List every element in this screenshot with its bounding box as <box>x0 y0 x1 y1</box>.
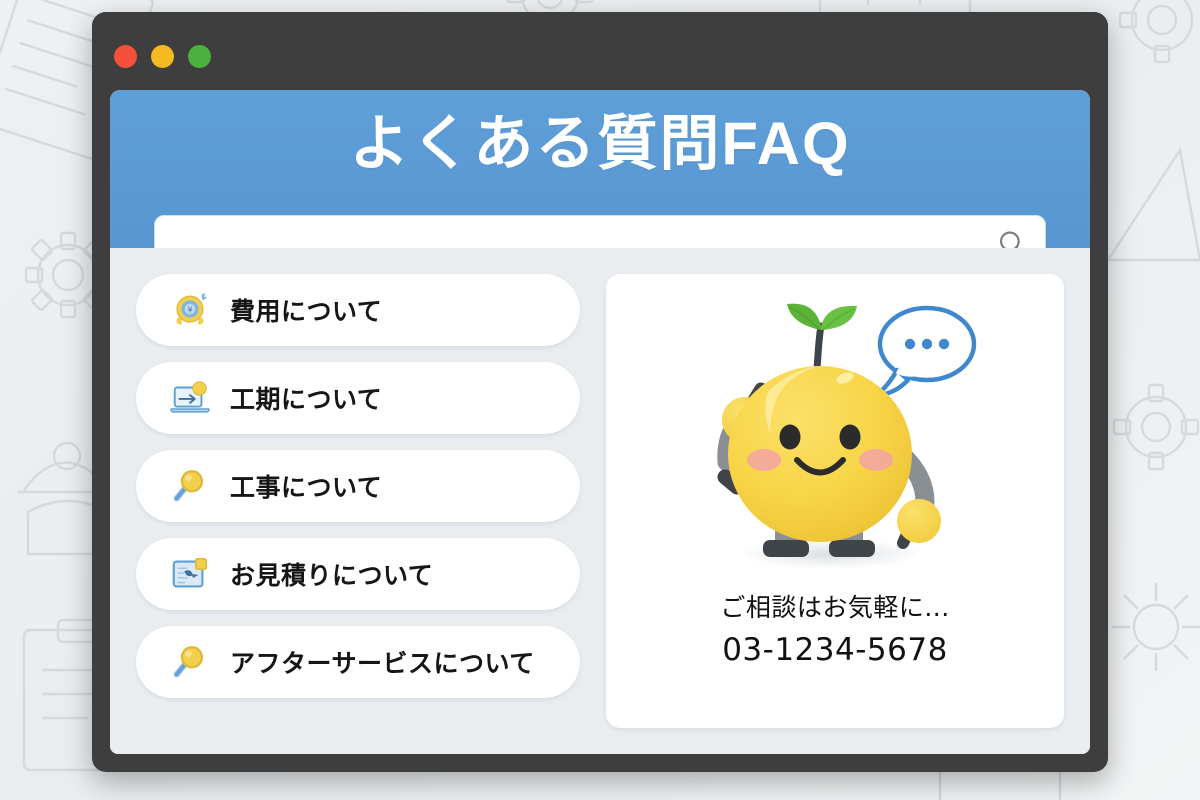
lemon-robot-mascot <box>635 282 1035 582</box>
contact-block: ご相談はお気軽に... 03-1234-5678 <box>606 588 1064 668</box>
minimize-button[interactable] <box>151 45 174 68</box>
faq-item-schedule[interactable]: 工期について <box>136 362 580 434</box>
magnifier-icon <box>168 640 212 684</box>
faq-item-label: 工事について <box>230 468 382 504</box>
faq-list: ¥ 費用について <box>136 274 580 728</box>
content-area: ¥ 費用について <box>110 248 1090 754</box>
close-button[interactable] <box>114 45 137 68</box>
speech-bubble-icon <box>875 308 974 396</box>
magnifier-icon <box>168 464 212 508</box>
coin-money-icon: ¥ <box>168 288 212 332</box>
svg-text:¥: ¥ <box>188 305 193 314</box>
app-window: よくある質問FAQ <box>92 12 1108 772</box>
faq-item-label: お見積りについて <box>230 556 433 592</box>
faq-item-after-service[interactable]: アフターサービスについて <box>136 626 580 698</box>
contact-phone-number[interactable]: 03-1234-5678 <box>606 632 1064 668</box>
traffic-light-controls <box>114 45 211 68</box>
faq-item-label: アフターサービスについて <box>230 644 535 680</box>
estimate-document-icon <box>168 552 212 596</box>
window-titlebar <box>92 12 1108 90</box>
page-root: よくある質問FAQ <box>0 0 1200 800</box>
faq-item-label: 工期について <box>230 380 382 416</box>
page-title: よくある質問FAQ <box>110 114 1090 174</box>
mascot-card: ご相談はお気軽に... 03-1234-5678 <box>606 274 1064 728</box>
laptop-schedule-icon <box>168 376 212 420</box>
faq-item-estimate[interactable]: お見積りについて <box>136 538 580 610</box>
faq-item-construction[interactable]: 工事について <box>136 450 580 522</box>
faq-item-cost[interactable]: ¥ 費用について <box>136 274 580 346</box>
contact-lead-text: ご相談はお気軽に... <box>606 588 1064 624</box>
page-viewport: よくある質問FAQ <box>110 90 1090 754</box>
faq-item-label: 費用について <box>230 292 382 328</box>
maximize-button[interactable] <box>188 45 211 68</box>
